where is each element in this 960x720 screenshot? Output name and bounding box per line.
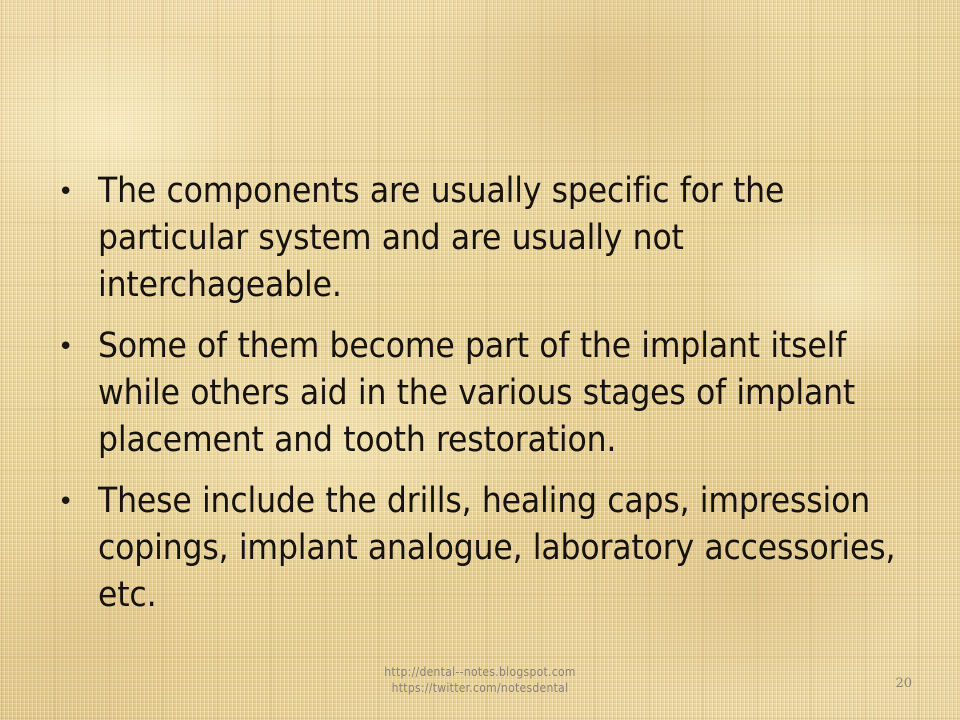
footer-blog-url[interactable]: http://dental--notes.blogspot.com bbox=[0, 664, 960, 680]
bullet-item: • These include the drills, healing caps… bbox=[54, 478, 904, 619]
slide-body-content: • The components are usually specific fo… bbox=[54, 168, 904, 619]
bullet-point-icon: • bbox=[54, 478, 98, 528]
bullet-glyph: • bbox=[58, 479, 73, 526]
bullet-glyph: • bbox=[58, 324, 73, 371]
footer-twitter-url[interactable]: https://twitter.com/notesdental bbox=[0, 680, 960, 696]
bullet-point-icon: • bbox=[54, 168, 98, 218]
bullet-glyph: • bbox=[58, 169, 73, 216]
bullet-text: These include the drills, healing caps, … bbox=[98, 478, 904, 619]
bullet-point-icon: • bbox=[54, 323, 98, 373]
bullet-text: The components are usually specific for … bbox=[98, 168, 904, 309]
bullet-item: • Some of them become part of the implan… bbox=[54, 323, 904, 464]
slide-footer: http://dental--notes.blogspot.com https:… bbox=[0, 664, 960, 696]
page-number: 20 bbox=[895, 676, 912, 692]
slide-canvas: • The components are usually specific fo… bbox=[0, 0, 960, 720]
bullet-item: • The components are usually specific fo… bbox=[54, 168, 904, 309]
bullet-text: Some of them become part of the implant … bbox=[98, 323, 904, 464]
